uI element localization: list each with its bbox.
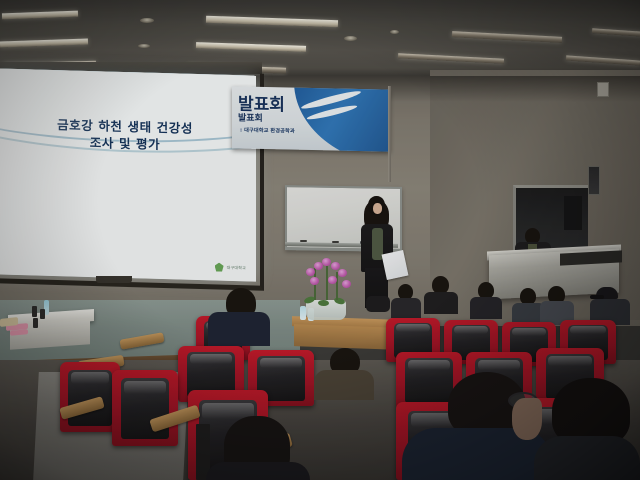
- orchid-bloom: [310, 277, 319, 285]
- center-table-body: [294, 324, 398, 350]
- banner-support-pole: [388, 86, 391, 182]
- seat-highlight: [408, 360, 450, 370]
- orchid-bloom: [338, 269, 347, 277]
- ceiling-light-fixture: [592, 28, 640, 37]
- ceiling-downlight: [138, 44, 150, 48]
- seat-highlight: [396, 324, 431, 332]
- audience-body: [424, 292, 458, 314]
- auditorium-seat[interactable]: [60, 362, 120, 432]
- audience-body: [314, 370, 374, 400]
- wall-box: [597, 82, 609, 97]
- seat-highlight: [570, 326, 606, 334]
- orchid-bloom: [322, 258, 331, 266]
- whiteboard-marker-icon: [300, 240, 307, 242]
- logo-text: 대구대학교: [227, 264, 246, 271]
- banner-wave-graphic: [294, 86, 390, 151]
- ceiling-light-fixture: [0, 38, 88, 47]
- seat-highlight: [512, 328, 547, 336]
- auditorium-seat[interactable]: [112, 370, 178, 446]
- audience-face: [512, 398, 542, 440]
- ceiling-light-fixture: [452, 31, 562, 43]
- seat-highlight: [71, 372, 109, 385]
- ceiling-light-fixture: [398, 53, 504, 64]
- ceiling-light-fixture: [206, 16, 338, 28]
- audience-body: [534, 436, 640, 480]
- paper-cup: [32, 306, 37, 317]
- logo-mark-icon: [215, 263, 224, 272]
- seat-highlight: [548, 356, 592, 366]
- paper-cup: [33, 318, 38, 328]
- audience-body: [391, 298, 421, 318]
- whiteboard-marker-icon: [332, 241, 339, 243]
- auditorium-photo: 금호강 하천 생태 건강성 조사 및 평가 대구대학교 발표회 발표회 : 대구…: [0, 0, 640, 480]
- orchid-bloom: [342, 280, 351, 288]
- alcove-dark-panel: [564, 196, 582, 230]
- ceiling-light-fixture: [2, 11, 78, 20]
- orchid-bloom: [306, 268, 315, 276]
- orchid-leaf: [318, 300, 329, 306]
- wall-speaker-icon: [588, 166, 600, 195]
- seat-highlight: [478, 360, 520, 370]
- event-banner: 발표회 발표회 : 대구대학교 환경공학과: [232, 86, 390, 151]
- orchid-bloom: [328, 276, 337, 284]
- seat-highlight: [260, 358, 302, 368]
- orchid-stem: [336, 272, 338, 300]
- floor-bag: [366, 296, 390, 312]
- seat-highlight: [190, 354, 232, 364]
- audience-body: [470, 297, 502, 319]
- slide-title: 금호강 하천 생태 건강성 조사 및 평가: [0, 114, 256, 155]
- audience-body: [208, 312, 270, 346]
- orchid-stem: [326, 266, 328, 300]
- ceiling-downlight: [390, 30, 399, 34]
- paper-cup: [40, 309, 45, 319]
- ceiling-downlight: [344, 36, 357, 41]
- screen-roller-weight: [96, 276, 132, 283]
- seat-highlight: [454, 326, 489, 334]
- banner-subheadline: 발표회: [238, 110, 263, 124]
- slide-university-logo: 대구대학교: [215, 263, 246, 273]
- projection-screen: 금호강 하천 생태 건강성 조사 및 평가 대구대학교: [0, 68, 256, 281]
- presentation-slide: 금호강 하천 생태 건강성 조사 및 평가 대구대학교: [0, 68, 256, 281]
- audience-body: [206, 462, 310, 480]
- ceiling-downlight: [140, 18, 154, 23]
- presenter-face: [373, 203, 382, 214]
- orchid-bloom: [331, 262, 340, 270]
- ceiling-light-fixture: [196, 42, 306, 52]
- banner-affiliation: : 대구대학교 환경공학과: [240, 127, 295, 135]
- seat-highlight: [124, 381, 166, 395]
- ceiling-light-fixture: [566, 55, 640, 65]
